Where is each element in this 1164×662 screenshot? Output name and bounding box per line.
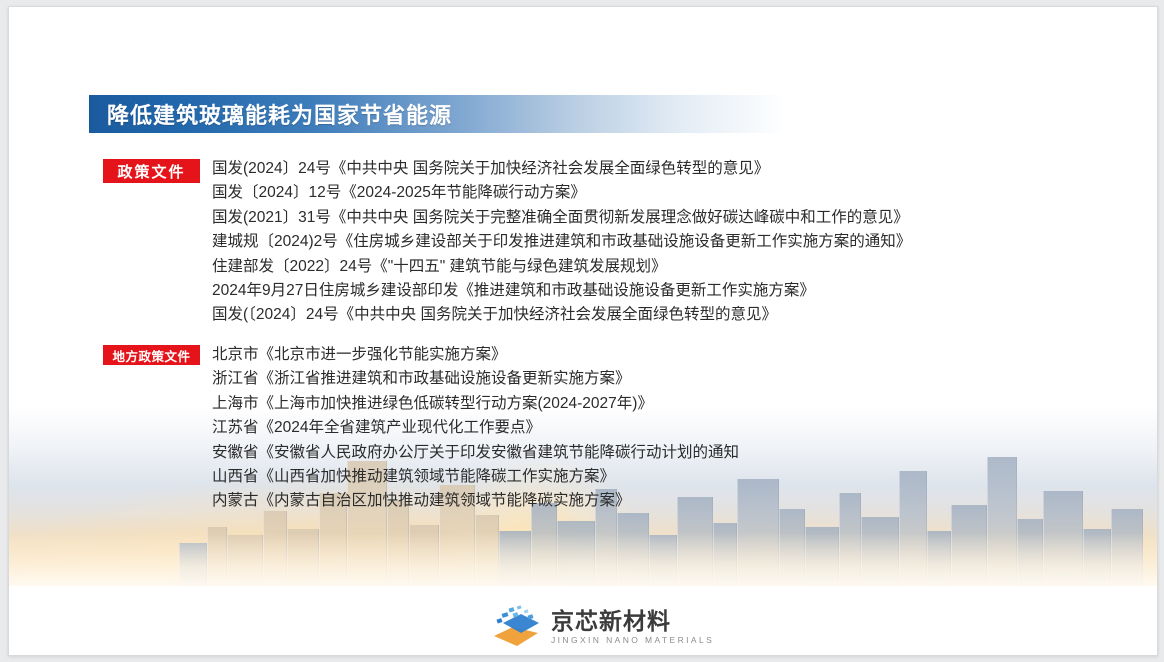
policy-documents-list: 国发(2024〕24号《中共中央 国务院关于加快经济社会发展全面绿色转型的意见》… — [212, 157, 911, 328]
logo-text: 京芯新材料 JINGXIN NANO MATERIALS — [551, 610, 714, 645]
company-logo: 京芯新材料 JINGXIN NANO MATERIALS — [491, 605, 714, 649]
list-item: 国发(〔2024〕24号《中共中央 国务院关于加快经济社会发展全面绿色转型的意见… — [212, 303, 911, 327]
badge-policy-documents: 政策文件 — [103, 159, 200, 183]
slide-canvas: 降低建筑玻璃能耗为国家节省能源 政策文件 国发(2024〕24号《中共中央 国务… — [0, 0, 1164, 662]
badge-local-policy-documents: 地方政策文件 — [103, 345, 200, 365]
list-item: 建城规〔2024)2号《住房城乡建设部关于印发推进建筑和市政基础设施设备更新工作… — [212, 230, 911, 254]
list-item: 2024年9月27日住房城乡建设部印发《推进建筑和市政基础设施设备更新工作实施方… — [212, 279, 911, 303]
logo-chinese-name: 京芯新材料 — [551, 610, 714, 633]
skyline-haze — [9, 533, 1157, 589]
list-item: 安徽省《安徽省人民政府办公厅关于印发安徽省建筑节能降碳行动计划的通知 — [212, 441, 739, 465]
list-item: 浙江省《浙江省推进建筑和市政基础设施设备更新实施方案》 — [212, 367, 739, 391]
list-item: 内蒙古《内蒙古自治区加快推动建筑领域节能降碳实施方案》 — [212, 489, 739, 513]
list-item: 住建部发〔2022〕24号《"十四五" 建筑节能与绿色建筑发展规划》 — [212, 255, 911, 279]
logo-english-name: JINGXIN NANO MATERIALS — [551, 636, 714, 645]
local-policy-documents-list: 北京市《北京市进一步强化节能实施方案》 浙江省《浙江省推进建筑和市政基础设施设备… — [212, 343, 739, 514]
list-item: 山西省《山西省加快推动建筑领域节能降碳工作实施方案》 — [212, 465, 739, 489]
list-item: 江苏省《2024年全省建筑产业现代化工作要点》 — [212, 416, 739, 440]
list-item: 国发(2024〕24号《中共中央 国务院关于加快经济社会发展全面绿色转型的意见》 — [212, 157, 911, 181]
page-title: 降低建筑玻璃能耗为国家节省能源 — [89, 98, 452, 130]
list-item: 北京市《北京市进一步强化节能实施方案》 — [212, 343, 739, 367]
list-item: 国发(2021〕31号《中共中央 国务院关于完整准确全面贯彻新发展理念做好碳达峰… — [212, 206, 911, 230]
list-item: 上海市《上海市加快推进绿色低碳转型行动方案(2024-2027年)》 — [212, 392, 739, 416]
logo-mark-icon — [491, 605, 541, 649]
slide-title-bar: 降低建筑玻璃能耗为国家节省能源 — [89, 95, 781, 133]
slide-page: 降低建筑玻璃能耗为国家节省能源 政策文件 国发(2024〕24号《中共中央 国务… — [8, 6, 1158, 656]
list-item: 国发〔2024〕12号《2024-2025年节能降碳行动方案》 — [212, 181, 911, 205]
